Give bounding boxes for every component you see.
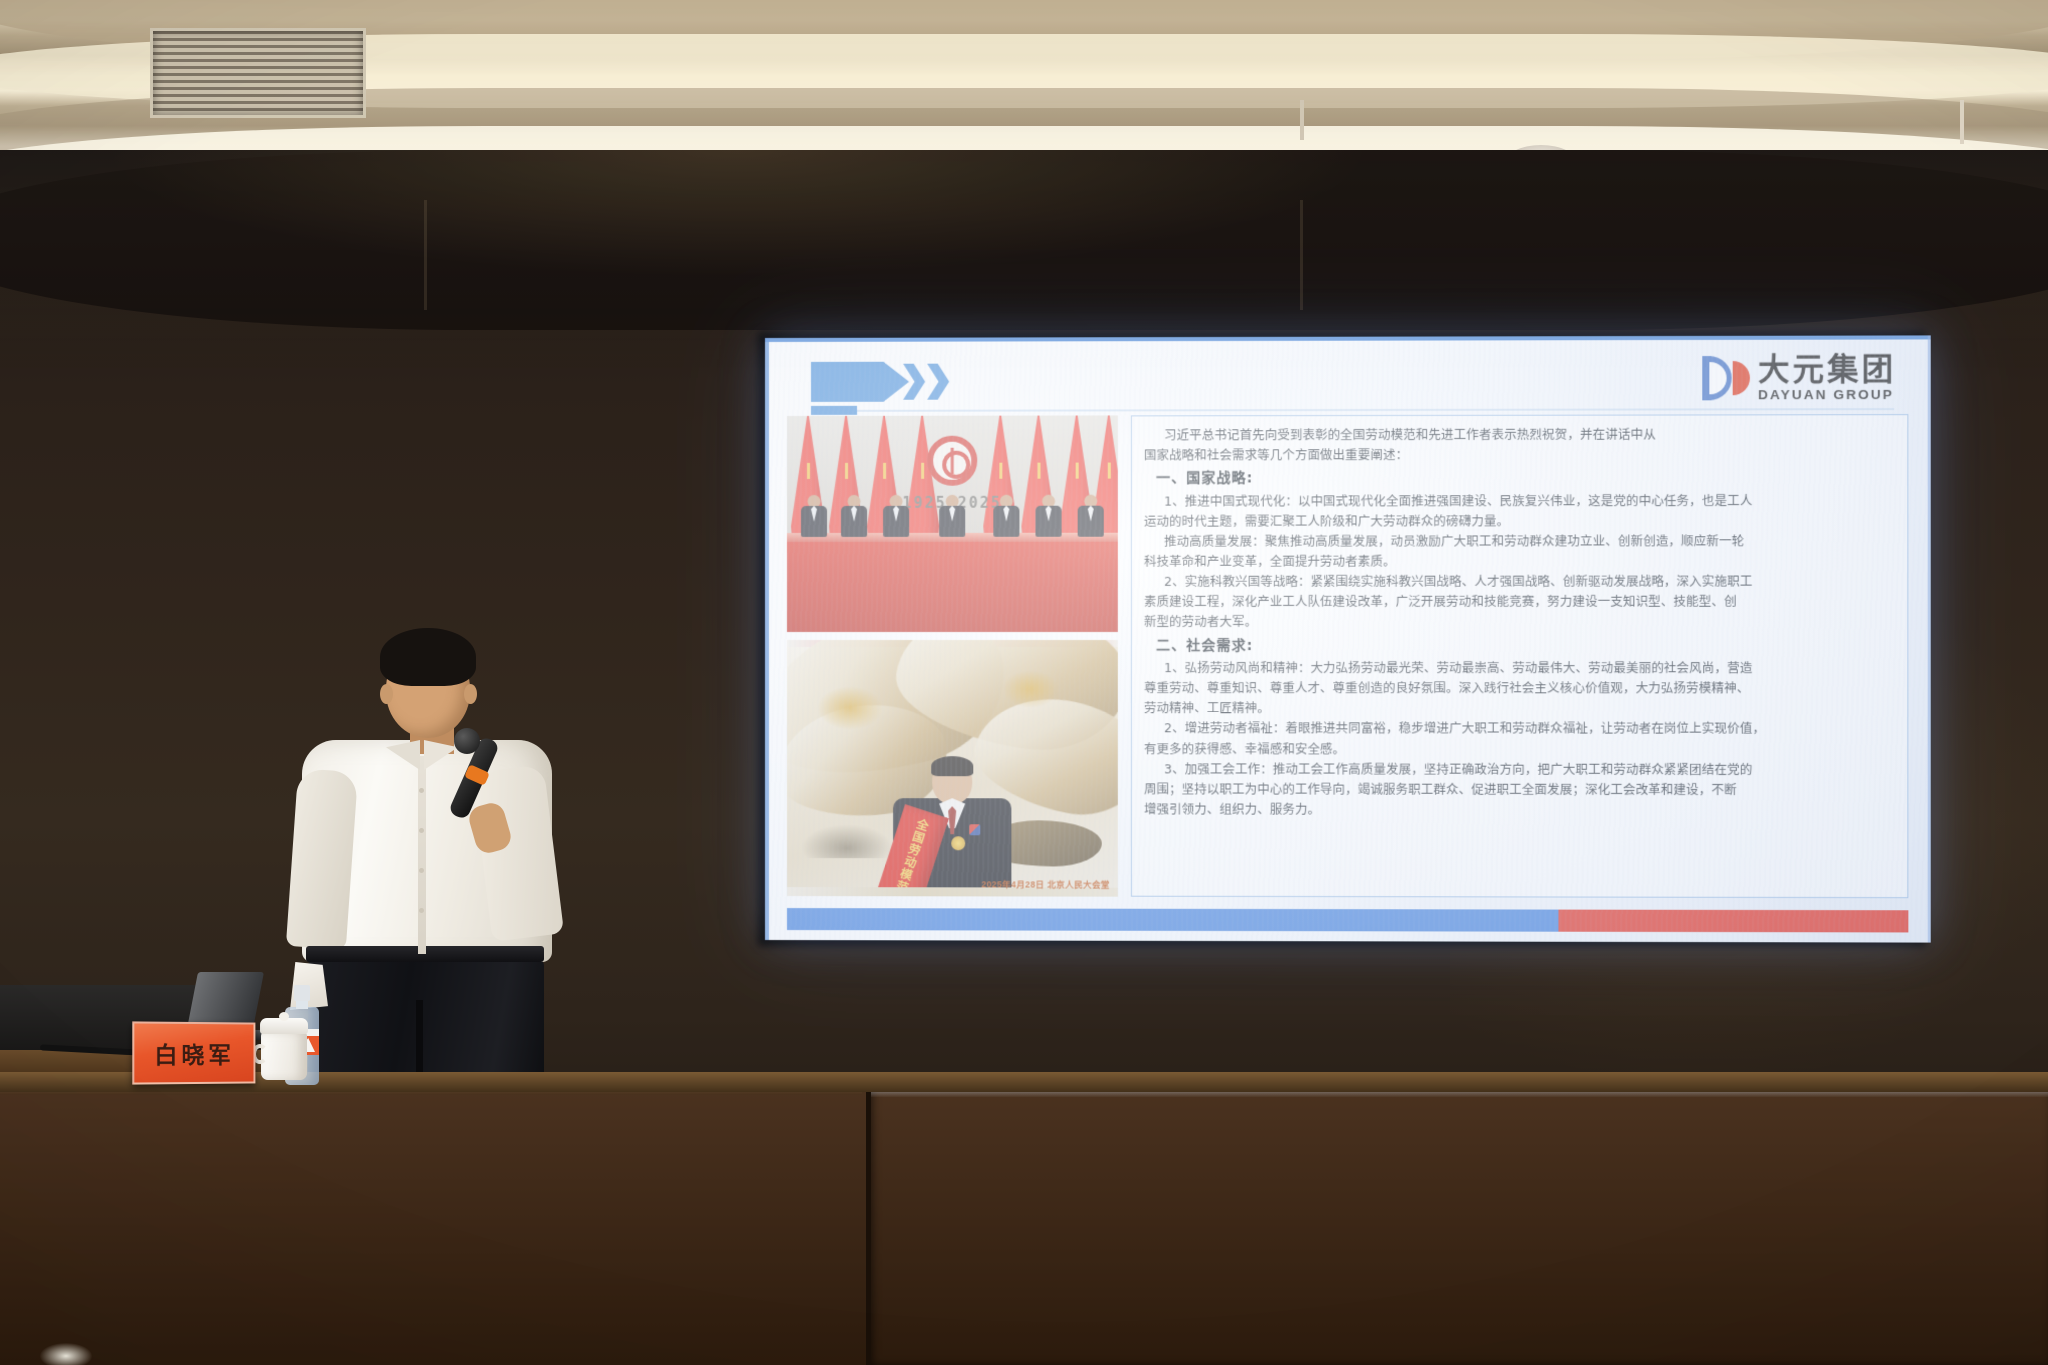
conference-room-photo: 大元集团 DAYUAN GROUP	[0, 0, 2048, 1365]
stage-official	[1078, 494, 1104, 536]
gold-highlight	[817, 686, 883, 730]
section-1-line: 1、推进中国式现代化：以中国式现代化全面推进强国建设、民族复兴伟业，这是党的中心…	[1144, 491, 1895, 512]
chevron-right-icon	[927, 364, 949, 400]
landscape-pine	[801, 824, 893, 858]
section-2-line: 1、弘扬劳动风尚和精神：大力弘扬劳动最光荣、劳动最崇高、劳动最伟大、劳动最美丽的…	[1144, 658, 1895, 678]
intro-line: 国家战略和社会需求等几个方面做出重要阐述：	[1144, 444, 1895, 465]
dais-segment-right	[870, 1078, 2048, 1365]
presentation-slide: 大元集团 DAYUAN GROUP	[765, 335, 1931, 942]
slide-footer	[787, 908, 1908, 932]
ear	[380, 684, 393, 704]
arrow-decoration-icon	[811, 362, 929, 402]
footer-red-bar	[1559, 910, 1909, 933]
slide-text-column: 习近平总书记首先向受到表彰的全国劳动模范和先进工作者表示热烈祝贺，并在讲话中从 …	[1131, 414, 1908, 898]
text-panel: 习近平总书记首先向受到表彰的全国劳动模范和先进工作者表示热烈祝贺，并在讲话中从 …	[1131, 414, 1908, 898]
stage-official	[939, 494, 965, 536]
shirt-button	[419, 788, 424, 793]
intro-line: 习近平总书记首先向受到表彰的全国劳动模范和先进工作者表示热烈祝贺，并在讲话中从	[1144, 424, 1895, 445]
slide-body: 1925-2025	[787, 414, 1908, 898]
tea-cup	[258, 1018, 310, 1080]
section-title-2: 二、社会需求:	[1144, 634, 1895, 657]
slide-header: 大元集团 DAYUAN GROUP	[787, 352, 1908, 416]
projection-screen: 大元集团 DAYUAN GROUP	[765, 335, 1931, 942]
header-rule-tab	[811, 406, 857, 415]
union-emblem-icon	[927, 436, 977, 486]
slide-image-column: 1925-2025	[787, 415, 1118, 896]
stage-official	[883, 494, 909, 536]
dais-seam	[866, 1078, 871, 1365]
section-1-line: 科技革命和产业变革，全面提升劳动者素质。	[1144, 551, 1895, 572]
section-2-line: 劳动精神、工匠精神。	[1144, 699, 1895, 720]
screen-edge-right	[1928, 335, 1931, 942]
name-placard: 白晓军	[132, 1021, 255, 1084]
shirt-placket	[418, 756, 426, 954]
name-placard-text: 白晓军	[154, 1036, 234, 1070]
section-2-line: 增强引领力、组织力、服务力。	[1144, 799, 1895, 820]
footer-blue-bar	[787, 908, 1559, 932]
left-arm	[286, 768, 358, 950]
recipient-hair	[931, 756, 973, 776]
screen-surface: 大元集团 DAYUAN GROUP	[765, 335, 1931, 942]
section-2-line: 有更多的获得感、幸福感和安全感。	[1144, 739, 1895, 760]
hvac-vent-icon	[150, 28, 366, 118]
photo-award-portrait: 全国劳动模范 2025年4月28日 北京人民大会堂	[787, 640, 1118, 897]
section-2-line: 周围；坚持以职工为中心的工作导向，竭诚服务职工群众、促进职工全面发展；深化工会改…	[1144, 779, 1895, 800]
speaker-hair	[380, 628, 476, 686]
dayuan-logo-icon	[1700, 355, 1749, 401]
company-logo: 大元集团 DAYUAN GROUP	[1700, 354, 1896, 402]
dais-segment-left	[0, 1078, 866, 1365]
section-1-line: 素质建设工程，深化产业工人队伍建设改革，广泛开展劳动和技能竞赛，努力建设一支知识…	[1144, 592, 1895, 612]
section-1-line: 推动高质量发展：聚焦推动高质量发展，动员激励广大职工和劳动群众建功立业、创新创造…	[1144, 531, 1895, 552]
shirt-button	[419, 868, 424, 873]
ceiling-hanger	[1300, 100, 1304, 140]
ear	[464, 684, 477, 704]
logo-red-mark	[1733, 361, 1750, 395]
cup-knob	[279, 1012, 289, 1021]
section-1-line: 2、实施科教兴国等战略：紧紧围绕实施科教兴国战略、人才强国战略、创新驱动发展战略…	[1144, 572, 1895, 593]
placard-light-glare	[40, 1343, 92, 1365]
shirt-button	[419, 908, 424, 913]
section-2-line: 尊重劳动、尊重知识、尊重人才、尊重创造的良好氛围。深入践行社会主义核心价值观，大…	[1144, 678, 1895, 698]
speaker-person	[268, 628, 608, 1098]
award-recipient: 全国劳动模范	[893, 758, 1011, 896]
lapel-pin-icon	[969, 824, 980, 835]
header-rule	[811, 408, 1894, 412]
stage-official	[993, 494, 1019, 536]
microphone-head-icon	[454, 728, 480, 754]
section-2-line: 3、加强工会工作：推动工会工作高质量发展，坚持正确政治方向，把广大职工和劳动群众…	[1144, 759, 1895, 780]
gold-highlight	[1002, 670, 1058, 708]
logo-wordmark: 大元集团 DAYUAN GROUP	[1758, 354, 1896, 402]
stage-official	[841, 495, 867, 537]
ceiling-hanger	[1960, 100, 1964, 144]
section-1-line: 新型的劳动者大军。	[1144, 612, 1895, 632]
medal-icon	[951, 836, 965, 850]
stage-official	[801, 495, 827, 537]
sash-label: 全国劳动模范	[892, 816, 932, 896]
cup-body	[261, 1032, 307, 1080]
stage-table	[787, 532, 1118, 632]
photo-caption: 2025年4月28日 北京人民大会堂	[982, 878, 1110, 890]
photo-conference-stage: 1925-2025	[787, 415, 1118, 632]
shirt-button	[419, 828, 424, 833]
logo-name-en: DAYUAN GROUP	[1758, 388, 1896, 402]
bottle-cap	[294, 985, 310, 1001]
section-2-line: 2、增进劳动者福祉：着眼推进共同富裕，稳步增进广大职工和劳动群众福祉，让劳动者在…	[1144, 719, 1895, 740]
section-1-line: 运动的时代主题，需要汇聚工人阶级和广大劳动群众的磅礴力量。	[1144, 511, 1895, 532]
screen-edge-left	[765, 338, 769, 940]
section-title-1: 一、国家战略:	[1144, 467, 1895, 491]
logo-name-cn: 大元集团	[1758, 354, 1896, 386]
stage-official	[1035, 494, 1061, 536]
arrow-body	[811, 362, 909, 402]
